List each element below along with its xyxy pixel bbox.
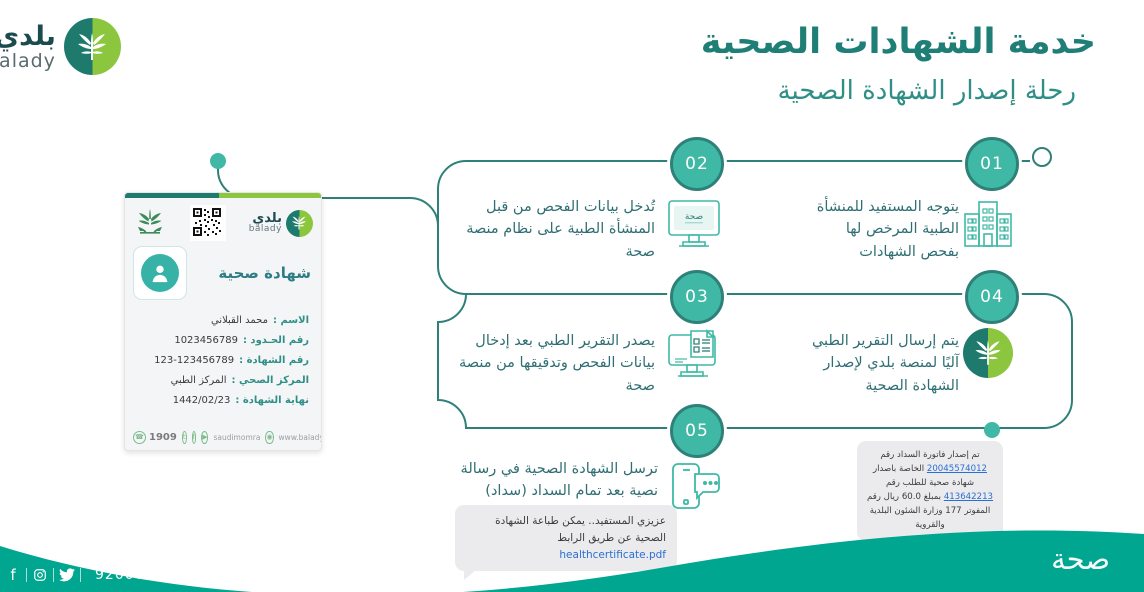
footer-bar: f 920002005: [0, 558, 1144, 592]
twitter-icon[interactable]: t: [182, 431, 187, 444]
card-field-row: رقم الشهادة : 123-123456789: [135, 355, 309, 366]
palm-emblem-icon: [64, 18, 121, 75]
step-text-03: يصدر التقرير الطبي بعد إدخال بيانات الفح…: [450, 330, 655, 397]
card-phone-number: 1909: [149, 432, 177, 443]
step-number-01: 01: [980, 154, 1004, 174]
step-number-03: 03: [685, 287, 709, 307]
instagram-icon[interactable]: [27, 563, 53, 587]
phone-icon: ☎: [133, 431, 146, 444]
flow-start-node: [1033, 148, 1051, 166]
field-label: رقم الشهادة :: [239, 355, 309, 366]
field-value: المركز الطبي: [171, 375, 227, 386]
facebook-icon[interactable]: f: [192, 431, 196, 444]
desktop-monitor-seha-icon: صحة: [665, 196, 723, 256]
card-footer: ☎ 1909 t f ▶ saudimomra ◉ www.baladygov.…: [125, 431, 321, 444]
youtube-icon[interactable]: ▶: [201, 431, 208, 444]
balady-palm-icon: [963, 328, 1013, 378]
card-title-row: شهادة صحية: [125, 243, 321, 302]
step-text-02: تُدخل بيانات الفحص من قبل المنشأة الطبية…: [455, 196, 655, 263]
twitter-icon[interactable]: [54, 563, 80, 587]
flow-end-node: [984, 422, 1000, 438]
step-badge-02[interactable]: 02: [670, 137, 724, 191]
step-badge-03[interactable]: 03: [670, 270, 724, 324]
qr-code-icon[interactable]: [190, 205, 226, 241]
balady-wordmark: بلدي balady: [0, 23, 56, 71]
facebook-icon[interactable]: f: [0, 563, 26, 587]
footer-phone-number: 920002005: [95, 567, 184, 583]
page-title: خدمة الشهادات الصحية: [701, 22, 1096, 62]
card-balady-latin: balady: [249, 225, 282, 234]
infographic-canvas: بلدي balady خدمة الشهادات الصحية رحلة إص…: [0, 0, 1144, 592]
card-field-row: المركز الصحي : المركز الطبي: [135, 375, 309, 386]
field-label: نهاية الشهادة :: [235, 395, 309, 406]
card-field-row: رقم الحـدود : 1023456789: [135, 335, 309, 346]
step-text-01: يتوجه المستفيد للمنشأة الطبية المرخص لها…: [809, 196, 959, 263]
palm-glyph: [64, 18, 121, 75]
sadad-request-number[interactable]: 413642213: [944, 491, 993, 505]
field-label: المركز الصحي :: [232, 375, 309, 386]
step-text-04: يتم إرسال التقرير الطبي آليًا لمنصة بلدي…: [809, 330, 959, 397]
hospital-building-icon: [960, 196, 1016, 256]
health-certificate-card[interactable]: بلدي balady: [124, 192, 322, 451]
flow-card-node: [210, 153, 226, 169]
field-label: الاسم :: [273, 315, 309, 326]
step-badge-04[interactable]: 04: [965, 270, 1019, 324]
card-palm-icon: [286, 210, 313, 237]
seha-logo: صحة: [1051, 542, 1110, 576]
card-balady-logo: بلدي balady: [249, 210, 313, 237]
step-text-05: ترسل الشهادة الصحية في رسالة نصية بعد تم…: [458, 458, 658, 503]
sadad-line-1: تم إصدار فاتورة السداد رقم: [880, 450, 979, 460]
field-value: 1442/02/23: [173, 395, 231, 406]
card-fields: الاسم : محمد القبلاني رقم الحـدود : 1023…: [125, 302, 321, 406]
step-badge-05[interactable]: 05: [670, 404, 724, 458]
card-social-handle: saudimomra: [213, 433, 260, 442]
card-phone-chip: ☎ 1909: [133, 431, 177, 444]
card-field-row: الاسم : محمد القبلاني: [135, 315, 309, 326]
balady-logo-latin: balady: [0, 52, 56, 71]
field-label: رقم الحـدود :: [243, 335, 309, 346]
step-badge-01[interactable]: 01: [965, 137, 1019, 191]
field-value: 1023456789: [174, 335, 238, 346]
card-website[interactable]: www.baladygov.sa: [279, 433, 322, 442]
step-number-04: 04: [980, 287, 1004, 307]
card-header: بلدي balady: [125, 198, 321, 243]
svg-text:صحة: صحة: [685, 212, 703, 222]
balady-logo-arabic: بلدي: [0, 23, 56, 50]
person-avatar-icon: [133, 246, 187, 300]
field-value: محمد القبلاني: [211, 315, 268, 326]
balady-logo: بلدي balady: [0, 18, 121, 75]
certificate-type-label: شهادة صحية: [218, 264, 311, 282]
avatar-glyph: [141, 254, 179, 292]
globe-icon: ◉: [265, 431, 273, 444]
card-field-row: نهاية الشهادة : 1442/02/23: [135, 395, 309, 406]
step-number-05: 05: [685, 421, 709, 441]
footer-divider: [80, 568, 81, 582]
medical-report-monitor-icon: [665, 328, 723, 388]
sadad-invoice-number[interactable]: 20045574012: [927, 463, 987, 477]
page-subtitle: رحلة إصدار الشهادة الصحية: [778, 76, 1076, 106]
field-value: 123-123456789: [154, 355, 234, 366]
saudi-emblem-icon: [133, 207, 167, 239]
step-number-02: 02: [685, 154, 709, 174]
